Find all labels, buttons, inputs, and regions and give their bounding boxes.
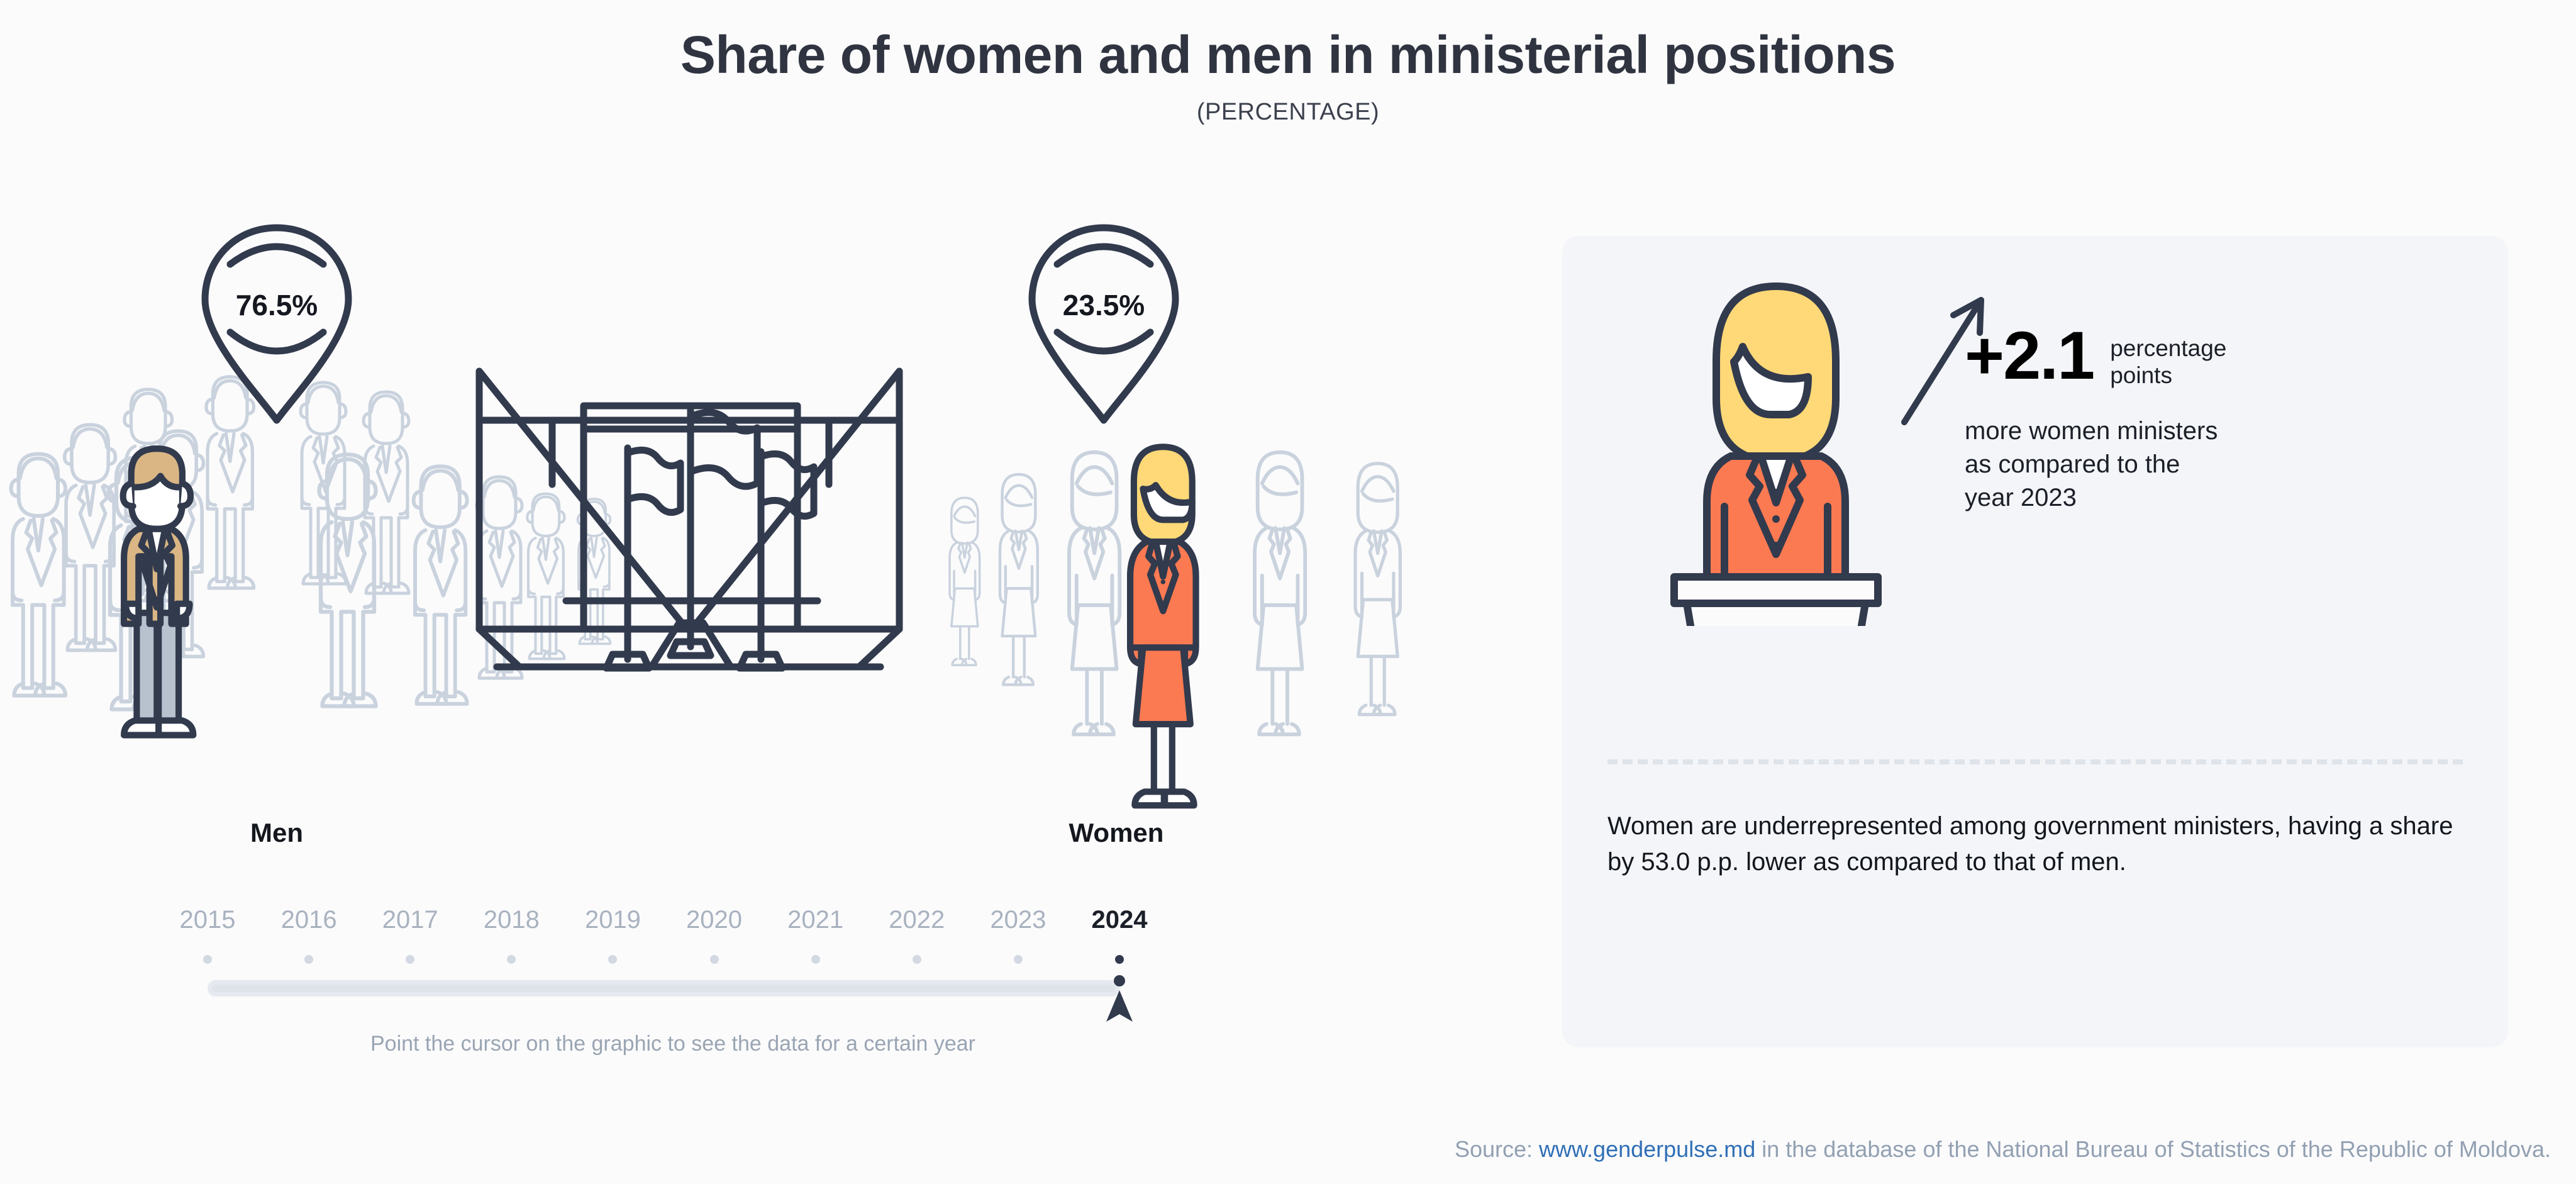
year-tick-2015[interactable]: [203, 955, 212, 964]
panel-top: +2.1 percentage points more women minist…: [1562, 236, 2508, 676]
highlighted-man-figure: [123, 449, 194, 735]
year-tick-2020[interactable]: [710, 955, 719, 964]
year-tick-2021[interactable]: [811, 955, 820, 964]
kpi-description: more women ministers as compared to the …: [1965, 415, 2487, 515]
year-label-2024[interactable]: 2024: [1092, 906, 1148, 934]
kpi-row: +2.1 percentage points: [1965, 324, 2487, 389]
chart-area[interactable]: 76.5% 23.5% Men Women: [0, 189, 1535, 849]
insight-panel: +2.1 percentage points more women minist…: [1562, 236, 2508, 1047]
year-label-2015[interactable]: 2015: [180, 906, 236, 934]
year-label-2021[interactable]: 2021: [787, 906, 843, 934]
source-prefix: Source:: [1455, 1136, 1539, 1162]
year-label-2020[interactable]: 2020: [686, 906, 742, 934]
women-value-pin: 23.5%: [1022, 220, 1185, 428]
timeline-hint: Point the cursor on the graphic to see t…: [208, 1032, 1138, 1056]
kpi-block: +2.1 percentage points more women minist…: [1965, 324, 2487, 515]
highlighted-woman-figure: [1130, 447, 1196, 805]
year-tick-2016[interactable]: [304, 955, 313, 964]
source-suffix: in the database of the National Bureau o…: [1755, 1136, 2551, 1162]
page-subtitle: (PERCENTAGE): [0, 99, 2576, 126]
kpi-unit: percentage points: [2110, 324, 2226, 389]
woman-at-podium-icon: [1650, 274, 1902, 626]
women-group-label: Women: [991, 818, 1242, 848]
year-timeline-slider[interactable]: 2015201620172018201920202021202220232024…: [208, 906, 1138, 1032]
year-label-2022[interactable]: 2022: [889, 906, 945, 934]
year-label-2018[interactable]: 2018: [484, 906, 540, 934]
year-tick-2023[interactable]: [1014, 955, 1023, 964]
year-label-2016[interactable]: 2016: [281, 906, 337, 934]
panel-note: Women are underrepresented among governm…: [1607, 808, 2469, 880]
slider-handle[interactable]: [1105, 975, 1134, 1024]
year-ticks[interactable]: [208, 955, 1138, 968]
source-line: Source: www.genderpulse.md in the databa…: [1455, 1136, 2551, 1163]
women-percentage-value: 23.5%: [1022, 288, 1185, 322]
kpi-value: +2.1: [1965, 324, 2094, 386]
year-label-2019[interactable]: 2019: [585, 906, 641, 934]
men-group-label: Men: [151, 818, 402, 848]
panel-divider: [1607, 759, 2463, 764]
year-tick-2018[interactable]: [507, 955, 516, 964]
men-percentage-value: 76.5%: [195, 288, 358, 322]
year-tick-2024[interactable]: [1115, 955, 1124, 964]
year-label-2023[interactable]: 2023: [990, 906, 1046, 934]
year-tick-2022[interactable]: [913, 955, 921, 964]
year-labels[interactable]: 2015201620172018201920202021202220232024: [208, 906, 1138, 944]
header: Share of women and men in ministerial po…: [0, 26, 2576, 126]
year-tick-2017[interactable]: [406, 955, 414, 964]
source-link[interactable]: www.genderpulse.md: [1539, 1136, 1755, 1162]
slider-track[interactable]: [208, 980, 1119, 997]
year-tick-2019[interactable]: [608, 955, 617, 964]
page-title: Share of women and men in ministerial po…: [0, 26, 2576, 84]
infographic-page: Share of women and men in ministerial po…: [0, 0, 2576, 1184]
year-label-2017[interactable]: 2017: [382, 906, 438, 934]
men-value-pin: 76.5%: [195, 220, 358, 428]
